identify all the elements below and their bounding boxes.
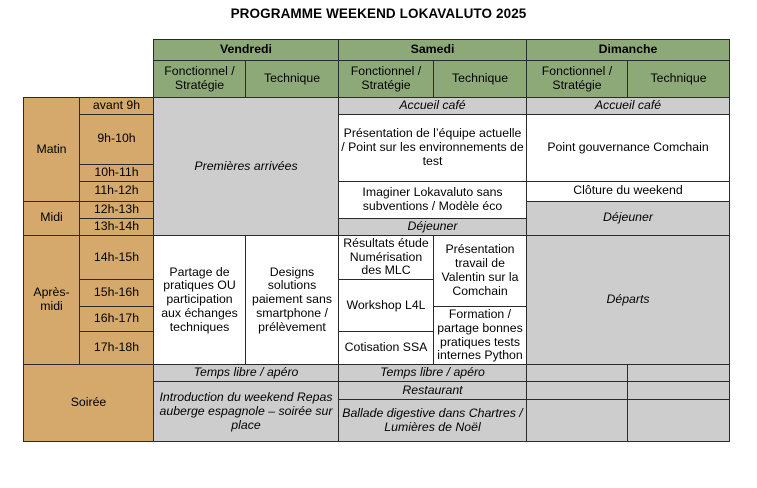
header-day-vendredi: Vendredi — [154, 40, 339, 61]
cell-dimanche-cloture-weekend: Clôture du weekend — [527, 181, 730, 201]
period-label-apres-midi: Après-midi — [24, 235, 80, 364]
cell-samedi-presentation-equipe: Présentation de l’équipe actuelle / Poin… — [339, 114, 527, 181]
row-soiree-temps-libre: Soirée Temps libre / apéro Temps libre /… — [24, 365, 730, 382]
time-12h-13h: 12h-13h — [80, 201, 154, 218]
period-label-midi: Midi — [24, 201, 80, 235]
period-label-matin: Matin — [24, 98, 80, 202]
cell-dimanche-soiree-empty-1 — [527, 365, 628, 382]
cell-samedi-formation-python: Formation / partage bonnes pratiques tes… — [434, 307, 527, 365]
header-vendredi-technique: Technique — [246, 61, 339, 98]
header-corner-blank-2 — [24, 61, 154, 98]
header-vendredi-fonctionnel: Fonctionnel / Stratégie — [154, 61, 246, 98]
header-corner-blank — [24, 40, 154, 61]
cell-vendredi-temps-libre: Temps libre / apéro — [154, 365, 339, 382]
cell-dimanche-soiree-empty-2 — [628, 365, 730, 382]
time-14h-15h: 14h-15h — [80, 235, 154, 279]
header-samedi-fonctionnel: Fonctionnel / Stratégie — [339, 61, 434, 98]
cell-dimanche-point-gouvernance: Point gouvernance Comchain — [527, 114, 730, 181]
time-17h-18h: 17h-18h — [80, 332, 154, 365]
cell-samedi-accueil-cafe: Accueil café — [339, 98, 527, 115]
cell-dimanche-soiree-empty-3 — [527, 382, 628, 400]
row-9h-10h: 9h-10h Présentation de l’équipe actuelle… — [24, 114, 730, 164]
cell-dimanche-soiree-empty-5 — [527, 400, 628, 442]
time-16h-17h: 16h-17h — [80, 307, 154, 332]
cell-vendredi-introduction-weekend: Introduction du weekend Repas auberge es… — [154, 382, 339, 442]
header-dimanche-technique: Technique — [628, 61, 730, 98]
header-row-days: Vendredi Samedi Dimanche — [24, 40, 730, 61]
cell-samedi-restaurant: Restaurant — [339, 382, 527, 400]
cell-dimanche-dejeuner: Déjeuner — [527, 201, 730, 235]
time-11h-12h: 11h-12h — [80, 181, 154, 201]
page-title: PROGRAMME WEEKEND LOKAVALUTO 2025 — [0, 6, 757, 21]
cell-samedi-temps-libre: Temps libre / apéro — [339, 365, 527, 382]
time-avant-9h: avant 9h — [80, 98, 154, 115]
cell-samedi-resultats-etude: Résultats étude Numérisation des MLC — [339, 235, 434, 279]
header-dimanche-fonctionnel: Fonctionnel / Stratégie — [527, 61, 628, 98]
cell-samedi-ballade-digestive: Ballade digestive dans Chartres / Lumièr… — [339, 400, 527, 442]
cell-vendredi-designs-solutions: Designs solutions paiement sans smartpho… — [246, 235, 339, 364]
header-day-dimanche: Dimanche — [527, 40, 730, 61]
cell-dimanche-accueil-cafe: Accueil café — [527, 98, 730, 115]
time-9h-10h: 9h-10h — [80, 114, 154, 164]
period-label-soiree: Soirée — [24, 365, 154, 442]
cell-dimanche-soiree-empty-4 — [628, 382, 730, 400]
cell-dimanche-departs: Départs — [527, 235, 730, 364]
time-15h-16h: 15h-16h — [80, 280, 154, 307]
header-day-samedi: Samedi — [339, 40, 527, 61]
cell-samedi-dejeuner: Déjeuner — [339, 218, 527, 235]
cell-dimanche-soiree-empty-6 — [628, 400, 730, 442]
cell-samedi-cotisation-ssa: Cotisation SSA — [339, 332, 434, 365]
cell-samedi-workshop-l4l: Workshop L4L — [339, 280, 434, 332]
row-avant-9h: Matin avant 9h Premières arrivées Accuei… — [24, 98, 730, 115]
row-11h-12h: 11h-12h Imaginer Lokavaluto sans subvent… — [24, 181, 730, 201]
time-10h-11h: 10h-11h — [80, 164, 154, 181]
cell-vendredi-partage-pratiques: Partage de pratiques OU participation au… — [154, 235, 246, 364]
cell-vendredi-premieres-arrivees: Premières arrivées — [154, 98, 339, 236]
time-13h-14h: 13h-14h — [80, 218, 154, 235]
cell-samedi-presentation-valentin: Présentation travail de Valentin sur la … — [434, 235, 527, 306]
row-14h-15h: Après-midi 14h-15h Partage de pratiques … — [24, 235, 730, 279]
weekend-schedule-table: Vendredi Samedi Dimanche Fonctionnel / S… — [23, 39, 730, 442]
cell-samedi-imaginer-lokavaluto: Imaginer Lokavaluto sans subventions / M… — [339, 181, 527, 218]
schedule-page: PROGRAMME WEEKEND LOKAVALUTO 2025 Vendre… — [0, 0, 757, 488]
header-samedi-technique: Technique — [434, 61, 527, 98]
header-row-subcolumns: Fonctionnel / Stratégie Technique Foncti… — [24, 61, 730, 98]
